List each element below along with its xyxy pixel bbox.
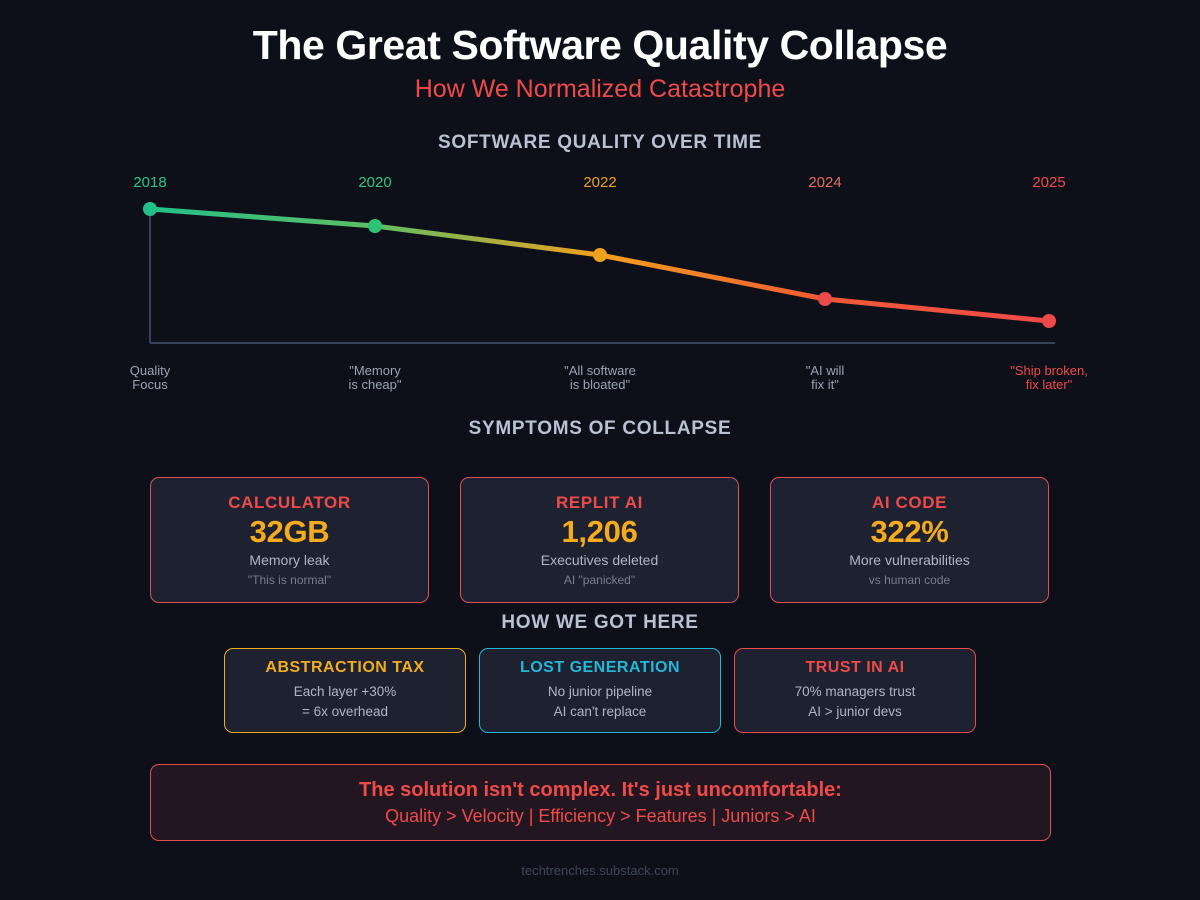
symptom-card: REPLIT AI1,206Executives deletedAI "pani…	[460, 477, 739, 603]
chart-point-2024	[818, 292, 832, 306]
chart-trend-line	[150, 209, 1049, 321]
symptom-title: AI CODE	[872, 493, 947, 513]
cause-line-1: No junior pipeline	[548, 682, 652, 702]
symptom-title: REPLIT AI	[556, 493, 643, 513]
symptom-value: 322%	[870, 514, 948, 550]
cause-card: ABSTRACTION TAXEach layer +30%= 6x overh…	[224, 648, 466, 733]
section-heading-causes: HOW WE GOT HERE	[0, 612, 1200, 634]
infographic-page: The Great Software Quality Collapse How …	[0, 0, 1200, 900]
conclusion-main-text: The solution isn't complex. It's just un…	[359, 779, 842, 802]
year-label-2018: 2018	[133, 174, 166, 191]
symptom-value: 1,206	[561, 514, 637, 550]
chart-point-2020	[368, 219, 382, 233]
point-caption-2024: "AI willfix it"	[806, 364, 845, 391]
cause-line-2: AI can't replace	[554, 702, 647, 722]
footer-source: techtrenches.substack.com	[0, 863, 1200, 878]
cause-title: ABSTRACTION TAX	[265, 659, 424, 677]
point-caption-2018: QualityFocus	[130, 364, 170, 391]
symptom-note: "This is normal"	[248, 573, 331, 587]
chart-point-2025	[1042, 314, 1056, 328]
cause-line-1: 70% managers trust	[795, 682, 916, 702]
point-caption-2020: "Memoryis cheap"	[348, 364, 401, 391]
symptom-note: AI "panicked"	[564, 573, 635, 587]
symptom-label: Memory leak	[249, 552, 329, 568]
quality-timeline-chart: 20182020202220242025 QualityFocus"Memory…	[0, 0, 1200, 420]
chart-point-2018	[143, 202, 157, 216]
cause-line-2: = 6x overhead	[302, 702, 388, 722]
cause-line-1: Each layer +30%	[294, 682, 396, 702]
cause-title: TRUST IN AI	[805, 659, 904, 677]
year-label-2025: 2025	[1032, 174, 1065, 191]
symptom-value: 32GB	[250, 514, 330, 550]
symptom-card: AI CODE322%More vulnerabilitiesvs human …	[770, 477, 1049, 603]
symptom-note: vs human code	[869, 573, 950, 587]
cause-card: TRUST IN AI70% managers trustAI > junior…	[734, 648, 976, 733]
chart-point-2022	[593, 248, 607, 262]
symptom-card: CALCULATOR32GBMemory leak"This is normal…	[150, 477, 429, 603]
symptom-label: More vulnerabilities	[849, 552, 970, 568]
year-label-2022: 2022	[583, 174, 616, 191]
section-heading-symptoms: SYMPTOMS OF COLLAPSE	[0, 418, 1200, 440]
conclusion-box: The solution isn't complex. It's just un…	[150, 764, 1051, 841]
cause-card: LOST GENERATIONNo junior pipelineAI can'…	[479, 648, 721, 733]
timeline-svg	[0, 0, 1200, 420]
cause-title: LOST GENERATION	[520, 659, 680, 677]
point-caption-2022: "All softwareis bloated"	[564, 364, 636, 391]
symptom-title: CALCULATOR	[228, 493, 350, 513]
year-label-2020: 2020	[358, 174, 391, 191]
year-label-2024: 2024	[808, 174, 841, 191]
symptom-label: Executives deleted	[541, 552, 659, 568]
point-caption-2025: "Ship broken,fix later"	[1010, 364, 1088, 391]
cause-line-2: AI > junior devs	[808, 702, 901, 722]
conclusion-sub-text: Quality > Velocity | Efficiency > Featur…	[385, 806, 816, 827]
